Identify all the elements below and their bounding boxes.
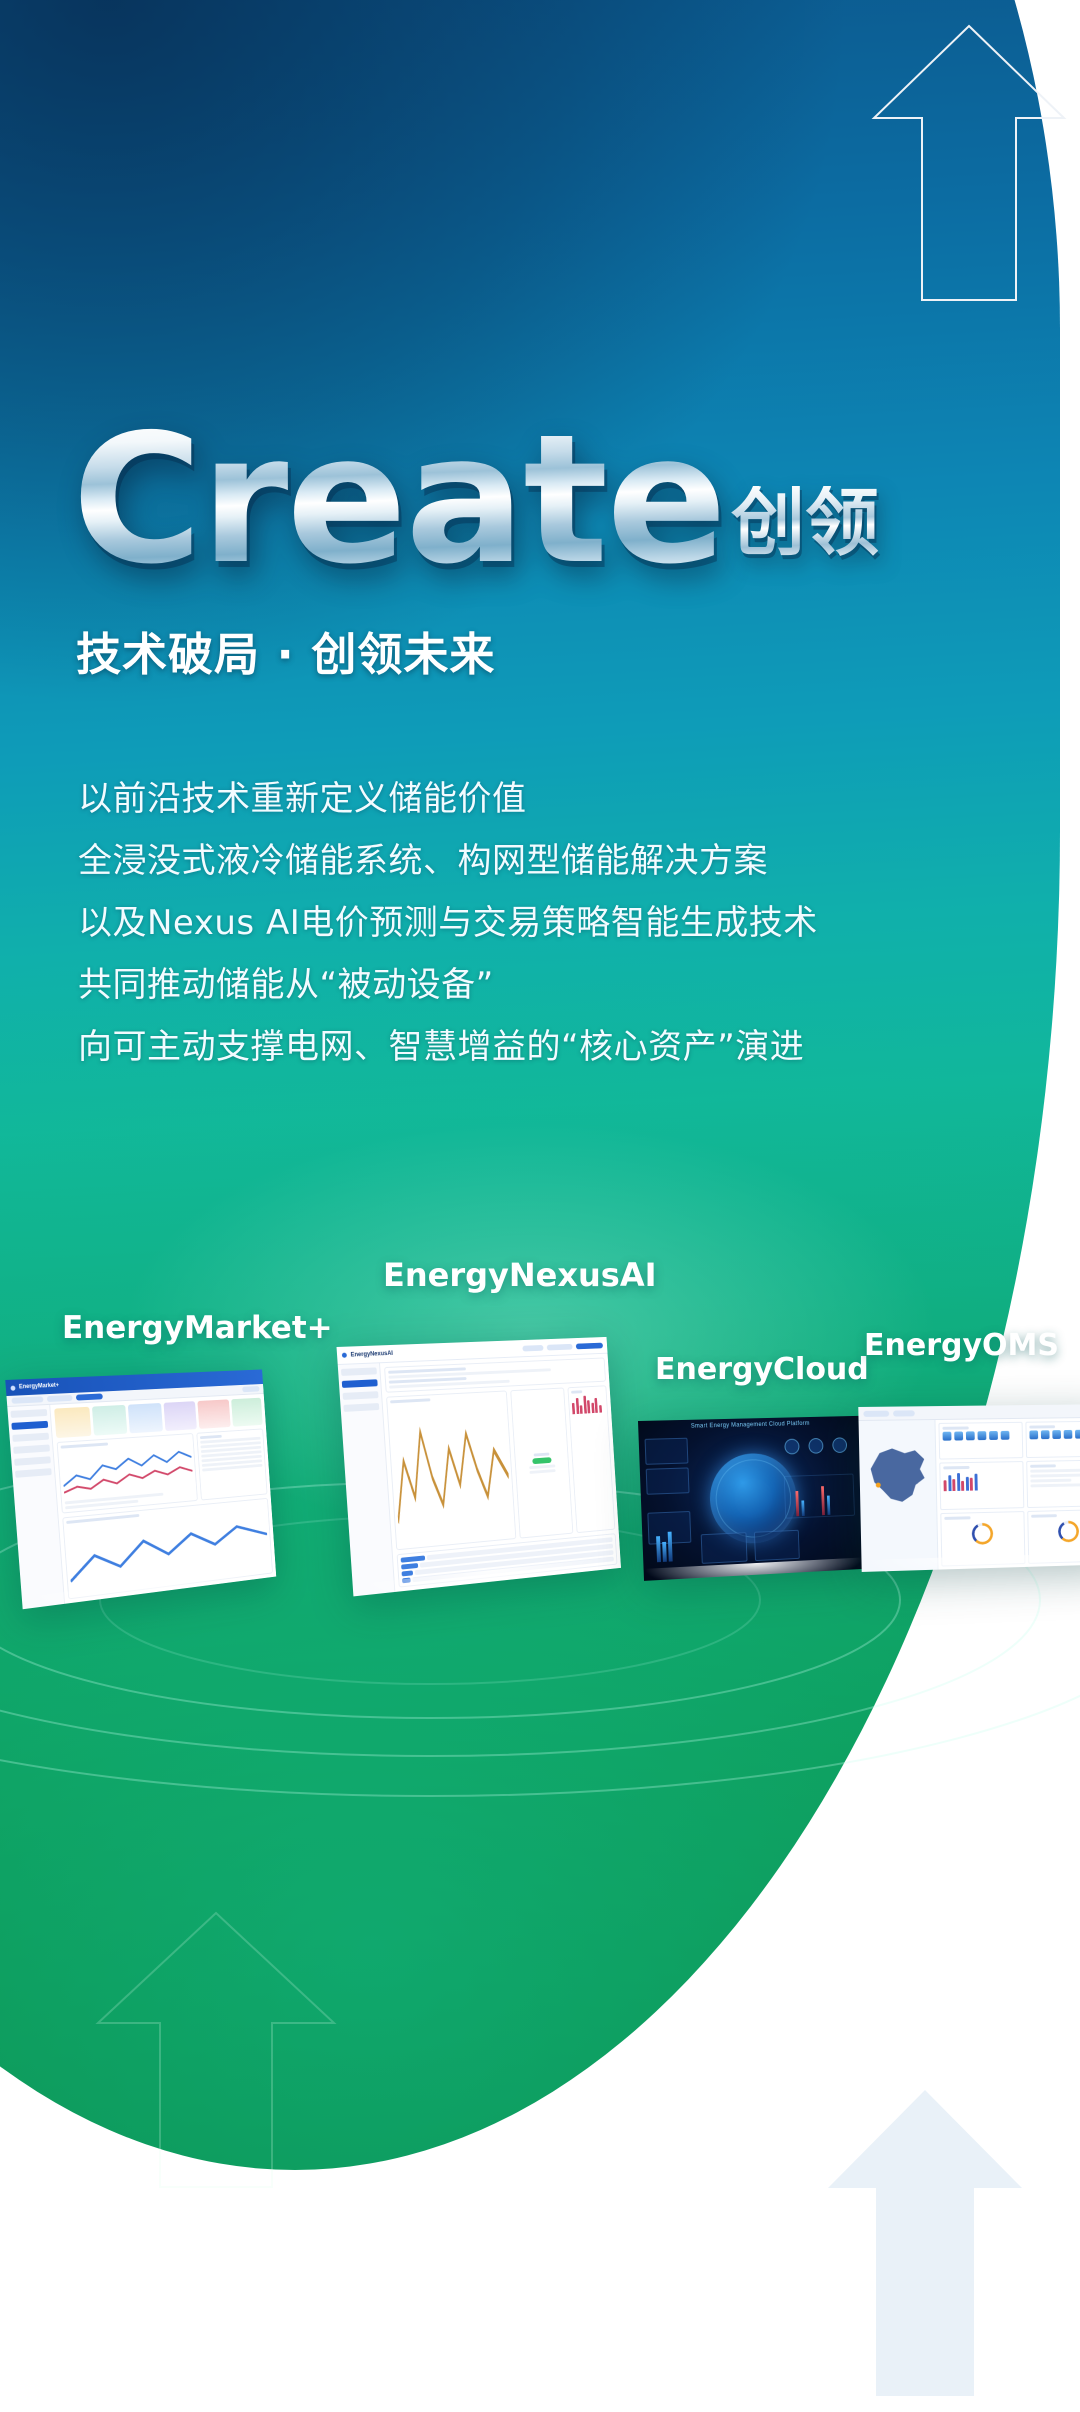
background-shape	[0, 0, 1080, 2180]
sidebar-item-active[interactable]	[342, 1379, 378, 1388]
product-screenshot-energycloud[interactable]: Smart Energy Management Cloud Platform	[638, 1416, 864, 1581]
legend-card	[701, 1532, 748, 1564]
tab-chip[interactable]	[863, 1410, 889, 1416]
product-screenshot-energymarket[interactable]: EnergyMarket+	[5, 1369, 276, 1609]
table-panel	[196, 1428, 267, 1500]
device-icon	[1029, 1430, 1038, 1439]
app-main	[380, 1354, 621, 1592]
body-line: 以前沿技术重新定义储能价值	[78, 768, 978, 830]
sidebar-item[interactable]	[343, 1391, 379, 1400]
oms-widget-grid	[935, 1418, 1080, 1570]
list-item	[1030, 1479, 1071, 1483]
china-map-shape	[869, 1448, 927, 1505]
poster-root: Create 创领 技术破局 · 创领未来 以前沿技术重新定义储能价值 全浸没式…	[0, 0, 1080, 2412]
widget-title	[942, 1426, 969, 1429]
gauge-chart	[1058, 1520, 1079, 1542]
sidebar-item[interactable]	[341, 1367, 377, 1376]
device-icon	[1063, 1430, 1072, 1439]
headline: Create 创领	[72, 418, 879, 582]
device-icon	[1040, 1430, 1049, 1439]
device-icon	[954, 1431, 963, 1440]
kpi-card	[91, 1405, 127, 1436]
product-label-energynexusai: EnergyNexusAI	[383, 1256, 657, 1294]
body-line: 共同推动储能从“被动设备”	[78, 954, 978, 1016]
app-body	[859, 1418, 1080, 1572]
list-item	[1030, 1468, 1080, 1472]
panel-line	[530, 1469, 556, 1474]
device-icon	[1052, 1430, 1061, 1439]
widget-title	[1031, 1514, 1057, 1518]
headline-create: Create	[72, 418, 725, 582]
product-showcase: EnergyMarket+ EnergyNexusAI EnergyCloud …	[0, 1255, 1080, 1675]
product-label-energycloud: EnergyCloud	[655, 1352, 869, 1387]
kpi-card	[197, 1399, 230, 1428]
oms-widget	[1025, 1421, 1080, 1458]
status-pill	[784, 1439, 799, 1455]
list-item	[1030, 1474, 1080, 1478]
kpi-card	[54, 1407, 91, 1438]
app-title: EnergyNexusAI	[350, 1350, 393, 1358]
device-icon	[1001, 1431, 1010, 1440]
device-icon	[943, 1432, 952, 1441]
status-pill	[808, 1438, 823, 1454]
tab-chip[interactable]	[522, 1345, 543, 1352]
body-line: 向可主动支撑电网、智慧增益的“核心资产”演进	[78, 1016, 978, 1078]
status-pill	[832, 1437, 847, 1453]
kpi-card	[163, 1401, 197, 1431]
body-line: 全浸没式液冷储能系统、构网型储能解决方案	[78, 830, 978, 892]
chart-card	[784, 1474, 855, 1519]
app-title: EnergyMarket+	[19, 1383, 59, 1391]
product-screenshot-energyoms[interactable]	[858, 1404, 1080, 1572]
icon-row	[943, 1431, 1019, 1441]
tab-chip[interactable]	[47, 1395, 73, 1402]
metric-card	[646, 1467, 690, 1494]
tab-chip-active[interactable]	[76, 1393, 103, 1400]
device-icon	[977, 1431, 986, 1440]
device-icon	[989, 1431, 998, 1440]
app-logo-icon	[342, 1353, 347, 1358]
tab-chip[interactable]	[242, 1386, 260, 1392]
metrics-region	[386, 1385, 615, 1550]
status-badge	[532, 1457, 551, 1464]
app-logo-icon	[10, 1385, 15, 1390]
gauge-chart	[972, 1523, 994, 1545]
chart-panel	[57, 1433, 198, 1513]
map-marker	[876, 1483, 881, 1488]
dashboard-title: Smart Energy Management Cloud Platform	[638, 1420, 859, 1431]
bar-chart	[943, 1470, 1019, 1491]
tab-chip-active[interactable]	[576, 1342, 603, 1349]
body-copy: 以前沿技术重新定义储能价值 全浸没式液冷储能系统、构网型储能解决方案 以及Nex…	[78, 768, 978, 1078]
metric-card	[645, 1438, 689, 1465]
sidebar-item[interactable]	[14, 1456, 51, 1466]
bar-chart	[571, 1394, 604, 1414]
sidebar-item[interactable]	[13, 1444, 50, 1453]
bar-panel	[567, 1385, 615, 1533]
chart-panel	[386, 1390, 516, 1550]
device-icon	[966, 1431, 975, 1440]
oms-widget	[938, 1422, 1022, 1460]
sidebar-item[interactable]	[343, 1403, 379, 1412]
widget-title	[1030, 1464, 1056, 1467]
gradient-blob	[0, 0, 1060, 2170]
oms-widget	[1026, 1460, 1080, 1509]
product-screenshot-energynexusai[interactable]: EnergyNexusAI	[337, 1337, 621, 1596]
product-label-energymarket: EnergyMarket+	[62, 1310, 333, 1346]
list-item	[1030, 1483, 1080, 1487]
sidebar-item-active[interactable]	[11, 1421, 48, 1430]
body-line: 以及Nexus AI电价预测与交易策略智能生成技术	[78, 892, 978, 954]
panel-title	[533, 1452, 550, 1456]
tab-chip[interactable]	[547, 1343, 573, 1350]
sidebar-item[interactable]	[15, 1468, 52, 1478]
headline-chinese: 创领	[731, 486, 879, 560]
widget-title	[944, 1516, 971, 1520]
kpi-panel	[510, 1387, 573, 1538]
device-icon	[1075, 1430, 1080, 1439]
oms-widget	[939, 1461, 1024, 1510]
kpi-card	[128, 1403, 163, 1433]
panel-title	[571, 1390, 582, 1393]
sidebar-item[interactable]	[10, 1409, 47, 1418]
tab-chip[interactable]	[11, 1396, 43, 1404]
forecast-chart	[390, 1399, 512, 1546]
tab-chip[interactable]	[893, 1410, 915, 1416]
widget-title	[1029, 1425, 1055, 1428]
sidebar-item[interactable]	[12, 1433, 49, 1442]
icon-row	[1029, 1429, 1080, 1439]
app-body	[338, 1354, 621, 1597]
line-chart	[61, 1442, 194, 1500]
poster-subtitle: 技术破局 · 创领未来	[76, 618, 495, 683]
china-map-panel	[859, 1420, 939, 1572]
panel-line	[529, 1464, 555, 1469]
panel-title	[200, 1435, 222, 1439]
legend-card	[754, 1530, 800, 1561]
widget-title	[943, 1466, 970, 1469]
kpi-card	[231, 1398, 263, 1427]
product-label-energyoms: EnergyOMS	[864, 1328, 1059, 1363]
dark-dashboard: Smart Energy Management Cloud Platform	[638, 1416, 864, 1581]
